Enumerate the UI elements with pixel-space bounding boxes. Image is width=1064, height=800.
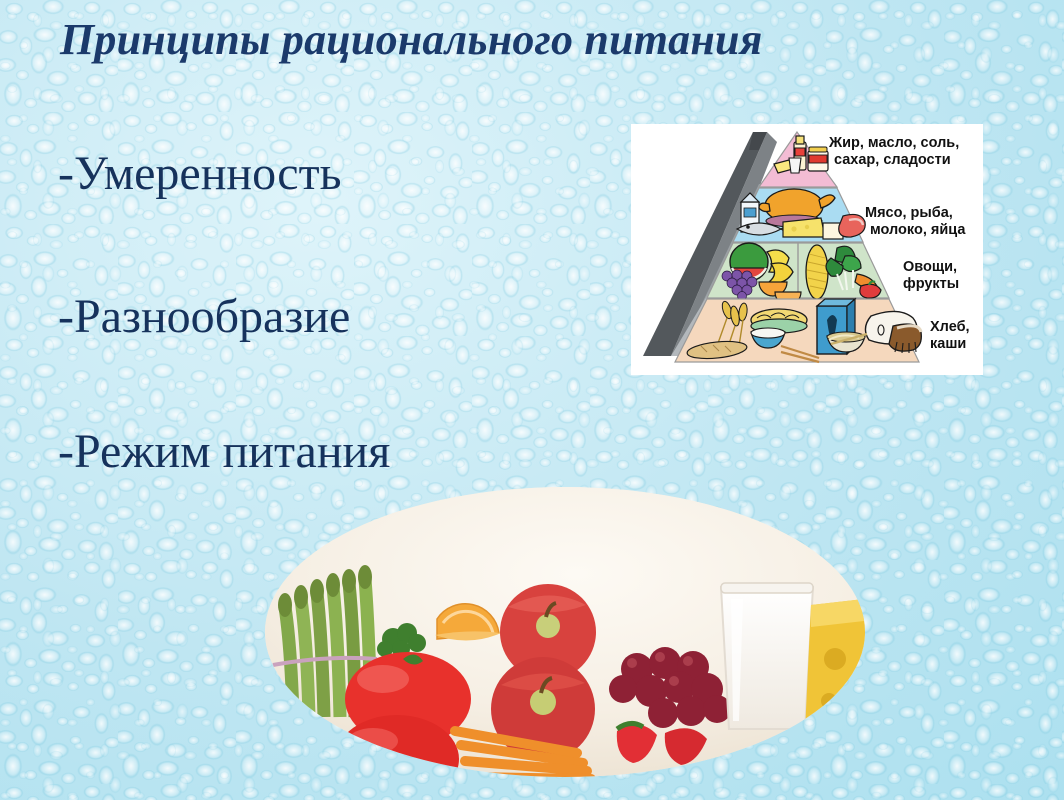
bullet-item-moderation: -Умеренность [58, 150, 341, 198]
pyramid-label-protein-line1: Мясо, рыба, [865, 205, 953, 221]
pyramid-level-grains [675, 299, 921, 362]
slide-canvas: Принципы рационального питания -Умеренно… [0, 0, 1064, 800]
pyramid-label-grains-line2: каши [930, 336, 966, 352]
pyramid-label-protein-line2: молоко, яйца [870, 222, 966, 238]
milk-glass [721, 583, 813, 729]
bullet-item-meal-schedule: -Режим питания [58, 428, 390, 476]
pyramid-label-produce-line1: Овощи, [903, 259, 957, 275]
pyramid-label-fats-line1: Жир, масло, соль, [828, 135, 959, 151]
pyramid-label-fats-line2: сахар, сладости [834, 152, 951, 168]
pyramid-level-produce [707, 243, 889, 305]
pyramid-label-grains-line1: Хлеб, [930, 319, 970, 335]
page-title: Принципы рационального питания [60, 16, 960, 64]
bullet-item-variety: -Разнообразие [58, 293, 350, 341]
pyramid-label-produce-line2: фрукты [903, 276, 959, 292]
food-pyramid-image: Жир, масло, соль, сахар, сладости Мясо, … [631, 124, 983, 375]
healthy-food-photo [265, 487, 865, 777]
